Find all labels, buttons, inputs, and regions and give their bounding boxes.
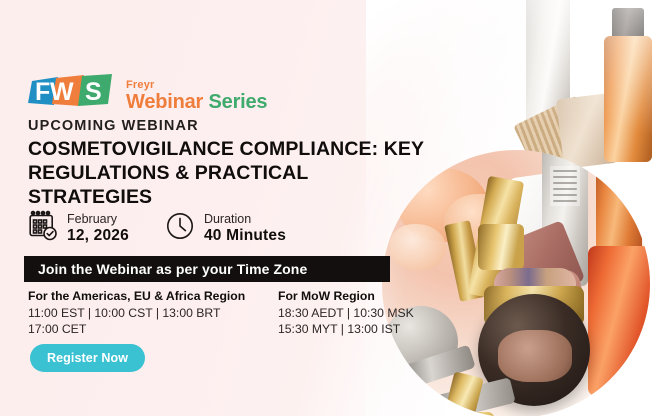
amber-serum-bottle (604, 36, 652, 162)
page-title: COSMETOVIGILANCE COMPLIANCE: KEY REGULAT… (28, 138, 436, 209)
content-column: F W S Freyr Webinar Series UPCOMING WEBI… (0, 0, 450, 416)
timezone-column-mow: For MoW Region 18:30 AEDT | 10:30 MSK 15… (278, 288, 458, 337)
timezone-line: 17:00 CET (28, 321, 260, 337)
brand-webinar: Webinar (126, 91, 203, 113)
red-serum-bottle (588, 246, 650, 396)
gold-lipstick-base (460, 412, 494, 416)
clock-icon (165, 211, 195, 246)
kicker-label: UPCOMING WEBINAR (28, 118, 199, 134)
timezone-heading: For the Americas, EU & Africa Region (28, 288, 260, 304)
event-duration-text: Duration 40 Minutes (204, 212, 286, 245)
event-date-text: February 12, 2026 (67, 212, 129, 245)
event-meta-row: February 12, 2026 Duration 40 Minutes (28, 210, 286, 247)
event-date: February 12, 2026 (28, 210, 129, 247)
brand-freyr: Freyr (126, 80, 267, 91)
timezone-line: 18:30 AEDT | 10:30 MSK (278, 305, 458, 321)
timezone-columns: For the Americas, EU & Africa Region 11:… (28, 288, 458, 337)
svg-text:W: W (50, 78, 74, 106)
brand-logo: F W S Freyr Webinar Series (28, 72, 267, 110)
event-duration: Duration 40 Minutes (165, 211, 286, 246)
timezone-banner-title: Join the Webinar as per your Time Zone (24, 261, 307, 277)
compact-powder-pan (498, 330, 572, 382)
calendar-check-icon (28, 210, 58, 247)
event-date-month: February (67, 212, 129, 227)
event-duration-value: 40 Minutes (204, 227, 286, 245)
fws-logo-icon: F W S (28, 72, 116, 110)
timezone-heading: For MoW Region (278, 288, 458, 304)
timezone-column-americas: For the Americas, EU & Africa Region 11:… (28, 288, 260, 337)
svg-text:F: F (35, 78, 50, 106)
register-now-button[interactable]: Register Now (30, 344, 145, 372)
event-date-value: 12, 2026 (67, 227, 129, 245)
bottle-label (550, 166, 580, 206)
gold-cream-jar (478, 224, 524, 270)
brand-series-line: Webinar Series (126, 92, 267, 112)
timezone-line: 11:00 EST | 10:00 CST | 13:00 BRT (28, 305, 260, 321)
brand-wordmark: Freyr Webinar Series (126, 80, 267, 112)
event-duration-label: Duration (204, 212, 286, 227)
svg-text:S: S (85, 78, 102, 106)
webinar-banner: F W S Freyr Webinar Series UPCOMING WEBI… (0, 0, 666, 416)
timezone-banner: Join the Webinar as per your Time Zone (24, 256, 390, 282)
brand-series: Series (209, 91, 268, 113)
timezone-line: 15:30 MYT | 13:00 IST (278, 321, 458, 337)
